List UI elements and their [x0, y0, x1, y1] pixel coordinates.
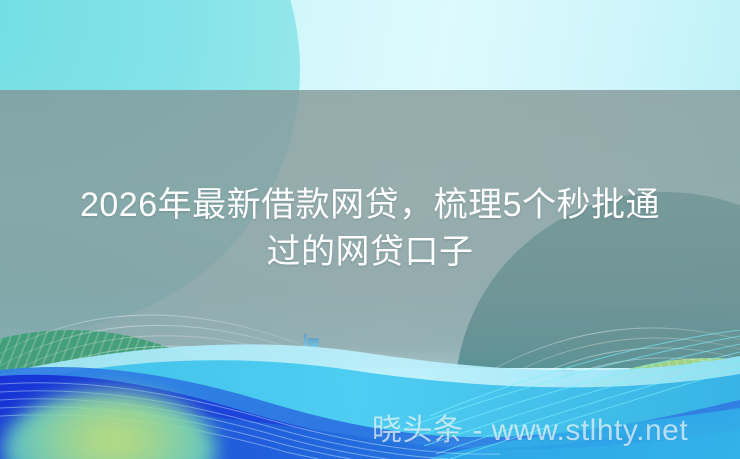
page-title-line1: 2026年最新借款网贷，梳理5个秒批通	[80, 186, 660, 224]
site-watermark: 晓头条 - www.stlhty.net	[372, 414, 688, 448]
page-title: 2026年最新借款网贷，梳理5个秒批通过的网贷口子	[0, 182, 740, 276]
poster-canvas: 2026年最新借款网贷，梳理5个秒批通过的网贷口子 晓头条 - www.stlh…	[0, 0, 740, 459]
page-title-line2: 过的网贷口子	[267, 233, 474, 271]
